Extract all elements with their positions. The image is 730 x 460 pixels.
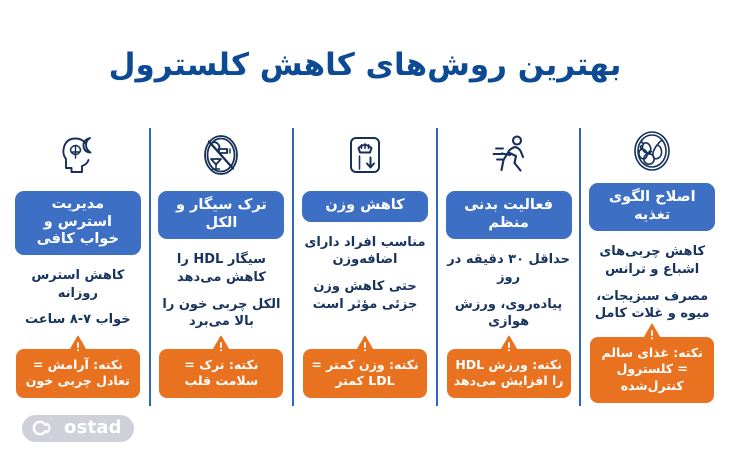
note-text-quit-smoking-alcohol: نکته: ترک = سلامت قلب (159, 349, 283, 399)
note-container-stress-sleep: نکته: آرامش = تعادل چربی خون (16, 335, 140, 403)
head-brain-moon-icon (52, 126, 104, 184)
infographic-page: بهترین روش‌های کاهش کلسترول اصلاح (0, 0, 730, 460)
page-title: بهترین روش‌های کاهش کلسترول (0, 46, 730, 85)
ostad-logo: ostad (22, 415, 134, 442)
warning-triangle-icon (67, 335, 89, 355)
method-body-line: سیگار HDL را کاهش می‌دهد (157, 251, 285, 286)
method-body-weight-loss: مناسب افراد دارای اضافه‌وزن حتی کاهش وزن… (301, 234, 429, 314)
note-container-quit-smoking-alcohol: نکته: ترک = سلامت قلب (159, 335, 283, 403)
method-body-line: مصرف سبزیجات، میوه و غلات کامل (588, 288, 716, 323)
warning-triangle-icon (210, 335, 232, 355)
note-container-physical-activity: نکته: ورزش HDL را افزایش می‌دهد (447, 335, 571, 403)
method-body-line: کاهش چربی‌های اشباع و ترانس (588, 243, 716, 278)
method-column-nutrition: اصلاح الگوی تغذیه کاهش چربی‌های اشباع و … (580, 124, 724, 402)
note-text-stress-sleep: نکته: آرامش = تعادل چربی خون (16, 349, 140, 399)
method-heading-physical-activity: فعالیت بدنی منظم (446, 191, 572, 239)
method-body-line: الکل چربی خون را بالا می‌برد (157, 296, 285, 331)
method-column-weight-loss: کاهش وزن مناسب افراد دارای اضافه‌وزن حتی… (293, 124, 437, 402)
warning-triangle-icon (498, 335, 520, 355)
page-title-container: بهترین روش‌های کاهش کلسترول (0, 46, 730, 85)
running-person-icon (484, 126, 534, 184)
method-body-quit-smoking-alcohol: سیگار HDL را کاهش می‌دهد الکل چربی خون ر… (157, 251, 285, 331)
method-body-line: حتی کاهش وزن جزئی مؤثر است (301, 278, 429, 313)
method-body-line: مناسب افراد دارای اضافه‌وزن (301, 234, 429, 269)
plate-of-vegetables-icon (627, 126, 677, 176)
note-text-nutrition: نکته: غذای سالم = کلسترول کنترل‌شده (590, 337, 714, 403)
method-column-stress-sleep: مدیریت استرس و خواب کافی کاهش استرس روزا… (6, 124, 150, 402)
note-container-weight-loss: نکته: وزن کمتر = LDL کمتر (303, 335, 427, 403)
method-column-quit-smoking-alcohol: ترک سیگار و الکل سیگار HDL را کاهش می‌ده… (150, 124, 294, 402)
method-body-line: کاهش استرس روزانه (14, 267, 142, 302)
method-heading-weight-loss: کاهش وزن (302, 191, 428, 222)
method-heading-stress-sleep: مدیریت استرس و خواب کافی (15, 191, 141, 255)
method-body-physical-activity: حداقل ۳۰ دقیقه در روز پیاده‌روی، ورزش هو… (445, 251, 573, 331)
method-heading-nutrition: اصلاح الگوی تغذیه (589, 183, 715, 231)
note-container-nutrition: نکته: غذای سالم = کلسترول کنترل‌شده (590, 323, 714, 407)
methods-columns: اصلاح الگوی تغذیه کاهش چربی‌های اشباع و … (6, 124, 724, 402)
two-circles-logo-icon (32, 419, 58, 437)
method-body-line: خواب ۷-۸ ساعت (14, 311, 142, 329)
note-text-physical-activity: نکته: ورزش HDL را افزایش می‌دهد (447, 349, 571, 399)
method-body-line: پیاده‌روی، ورزش هوازی (445, 296, 573, 331)
method-body-line: حداقل ۳۰ دقیقه در روز (445, 251, 573, 286)
no-smoking-no-alcohol-icon (195, 126, 247, 184)
note-text-weight-loss: نکته: وزن کمتر = LDL کمتر (303, 349, 427, 399)
warning-triangle-icon (641, 323, 663, 343)
warning-triangle-icon (354, 335, 376, 355)
method-heading-quit-smoking-alcohol: ترک سیگار و الکل (158, 191, 284, 239)
weight-scale-icon (340, 126, 390, 184)
method-column-physical-activity: فعالیت بدنی منظم حداقل ۳۰ دقیقه در روز پ… (437, 124, 581, 402)
method-body-stress-sleep: کاهش استرس روزانه خواب ۷-۸ ساعت (14, 267, 142, 329)
logo-text: ostad (64, 419, 122, 437)
method-body-nutrition: کاهش چربی‌های اشباع و ترانس مصرف سبزیجات… (588, 243, 716, 323)
